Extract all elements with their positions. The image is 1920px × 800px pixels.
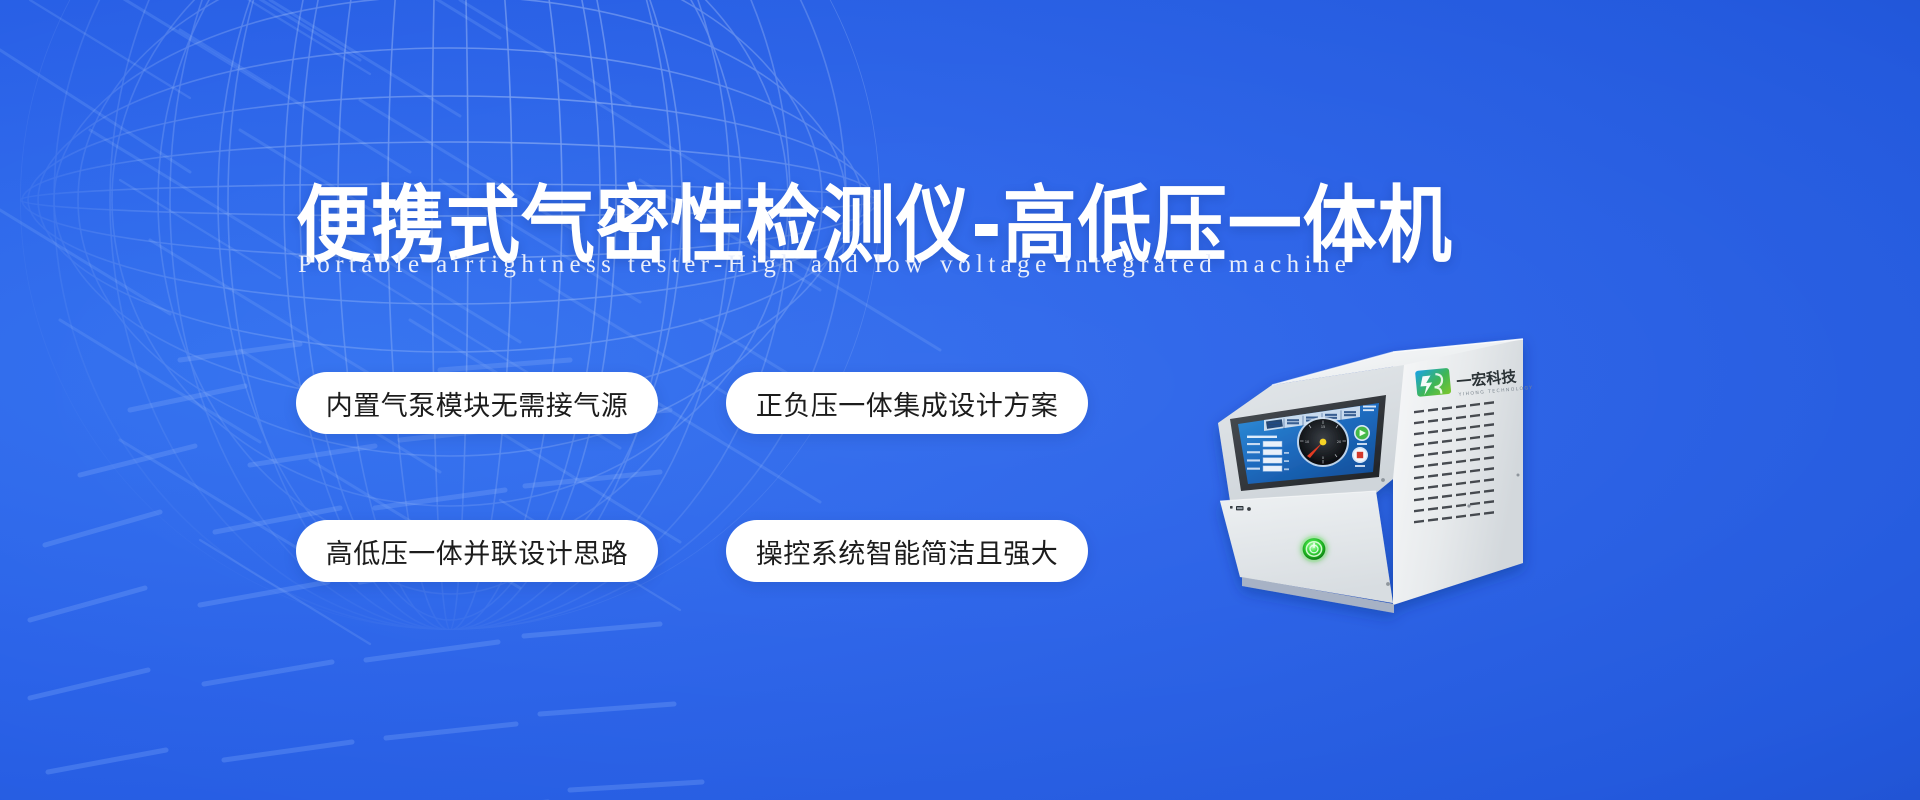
screen-panel-title [1247, 436, 1277, 438]
feature-pill-built-in-pump[interactable]: 内置气泵模块无需接气源 [296, 372, 658, 434]
banner-content: 便携式气密性检测仪-高低压一体机 Portable airtightness t… [0, 0, 1920, 800]
brand-logo [1415, 368, 1451, 397]
product-image-airtightness-tester: 15 20 0 10 [1190, 325, 1620, 655]
svg-text:10: 10 [1305, 440, 1309, 444]
feature-pill-control-system[interactable]: 操控系统智能简洁且强大 [726, 520, 1088, 582]
power-button [1300, 536, 1328, 563]
svg-text:15: 15 [1321, 425, 1325, 429]
promo-banner: 便携式气密性检测仪-高低压一体机 Portable airtightness t… [0, 0, 1920, 800]
feature-pill-row-1: 内置气泵模块无需接气源 正负压一体集成设计方案 [296, 372, 1116, 434]
screen-gauge: 15 20 0 10 [1297, 417, 1349, 467]
svg-text:20: 20 [1337, 440, 1341, 444]
page-subtitle: Portable airtightness tester-High and lo… [298, 250, 1638, 280]
feature-pill-positive-negative[interactable]: 正负压一体集成设计方案 [726, 372, 1088, 434]
svg-text:0: 0 [1322, 456, 1324, 460]
feature-pill-row-2: 高低压一体并联设计思路 操控系统智能简洁且强大 [296, 520, 1116, 582]
feature-pill-high-low-parallel[interactable]: 高低压一体并联设计思路 [296, 520, 658, 582]
feature-pill-group: 内置气泵模块无需接气源 正负压一体集成设计方案 高低压一体并联设计思路 操控系统… [296, 372, 1116, 668]
